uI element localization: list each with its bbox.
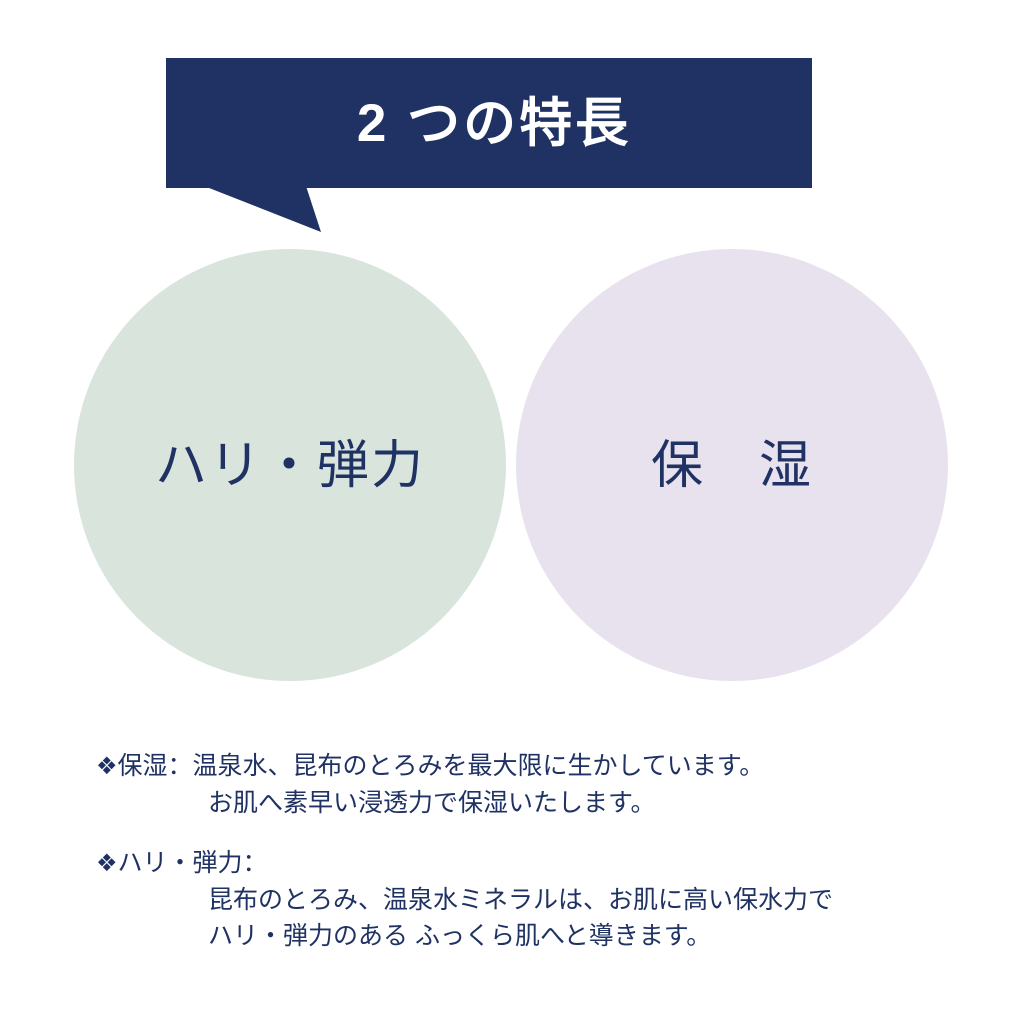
note-block-moisture: ❖保湿：温泉水、昆布のとろみを最大限に生かしています。 お肌へ素早い浸透力で保湿… xyxy=(96,748,976,821)
notes-section: ❖保湿：温泉水、昆布のとろみを最大限に生かしています。 お肌へ素早い浸透力で保湿… xyxy=(96,748,976,954)
note-body-line: 昆布のとろみ、温泉水ミネラルは、お肌に高い保水力で xyxy=(96,882,976,918)
note-block-firmness: ❖ハリ・弾力： 昆布のとろみ、温泉水ミネラルは、お肌に高い保水力で ハリ・弾力の… xyxy=(96,845,976,954)
note-heading-row: ❖保湿：温泉水、昆布のとろみを最大限に生かしています。 xyxy=(96,748,976,785)
note-heading: 保湿：温泉水、昆布のとろみを最大限に生かしています。 xyxy=(118,752,765,780)
note-heading-row: ❖ハリ・弾力： xyxy=(96,845,976,882)
venn-label-left: ハリ・弾力 xyxy=(74,440,506,492)
poster-canvas: 2 つの特長 ハリ・弾力 保 湿 ❖保湿：温泉水、昆布のとろみを最大限に生かして… xyxy=(0,0,1021,1021)
diamond-bullet-icon: ❖ xyxy=(96,753,118,780)
note-body-line: ハリ・弾力のある ふっくら肌へと導きます。 xyxy=(96,918,976,954)
note-body-line: お肌へ素早い浸透力で保湿いたします。 xyxy=(96,785,976,821)
note-heading: ハリ・弾力： xyxy=(118,849,268,877)
venn-label-right: 保 湿 xyxy=(516,440,948,492)
diamond-bullet-icon: ❖ xyxy=(96,850,118,877)
